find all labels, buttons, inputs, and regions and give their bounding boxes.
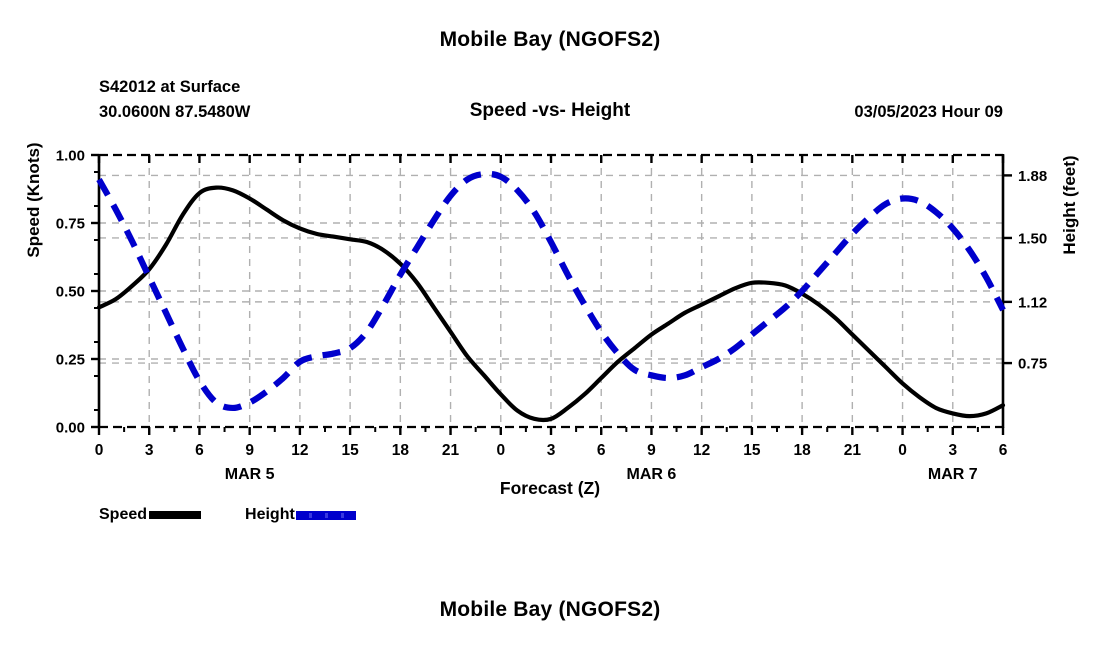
svg-text:0.75: 0.75 — [1018, 356, 1047, 373]
legend-item-height[interactable]: Height — [245, 506, 356, 524]
chart-legend: Speed Height — [99, 506, 356, 524]
svg-text:15: 15 — [743, 442, 761, 459]
legend-swatch-speed-icon — [149, 511, 201, 519]
svg-text:12: 12 — [291, 442, 308, 459]
grid-lines — [99, 155, 1003, 427]
svg-text:9: 9 — [647, 442, 656, 459]
svg-text:21: 21 — [442, 442, 460, 459]
footer-title: Mobile Bay (NGOFS2) — [0, 598, 1100, 622]
svg-text:0: 0 — [95, 442, 104, 459]
svg-text:18: 18 — [793, 442, 811, 459]
chart-page: Mobile Bay (NGOFS2) S42012 at Surface 30… — [0, 0, 1100, 650]
svg-text:15: 15 — [341, 442, 359, 459]
svg-text:21: 21 — [844, 442, 862, 459]
svg-text:9: 9 — [245, 442, 254, 459]
legend-item-speed[interactable]: Speed — [99, 506, 245, 524]
svg-text:1.00: 1.00 — [56, 148, 85, 165]
svg-text:0: 0 — [898, 442, 907, 459]
svg-text:MAR 6: MAR 6 — [627, 466, 677, 483]
svg-text:0.00: 0.00 — [56, 420, 85, 437]
svg-text:6: 6 — [195, 442, 204, 459]
svg-text:MAR 5: MAR 5 — [225, 466, 275, 483]
svg-text:1.88: 1.88 — [1018, 168, 1047, 185]
svg-text:0.50: 0.50 — [56, 284, 85, 301]
svg-text:0.25: 0.25 — [56, 352, 85, 369]
legend-label-height: Height — [245, 506, 295, 524]
svg-text:1.12: 1.12 — [1018, 294, 1047, 311]
svg-text:0.75: 0.75 — [56, 216, 85, 233]
legend-label-speed: Speed — [99, 506, 147, 524]
svg-text:3: 3 — [145, 442, 154, 459]
chart-plot: 0.000.250.500.751.000.751.121.501.880369… — [0, 0, 1100, 650]
svg-text:18: 18 — [392, 442, 410, 459]
svg-text:6: 6 — [999, 442, 1008, 459]
svg-text:1.50: 1.50 — [1018, 230, 1047, 247]
svg-text:MAR 7: MAR 7 — [928, 466, 978, 483]
legend-swatch-height-icon — [296, 511, 356, 520]
svg-text:3: 3 — [547, 442, 556, 459]
svg-text:6: 6 — [597, 442, 606, 459]
svg-text:0: 0 — [496, 442, 505, 459]
svg-text:12: 12 — [693, 442, 710, 459]
svg-text:3: 3 — [948, 442, 957, 459]
